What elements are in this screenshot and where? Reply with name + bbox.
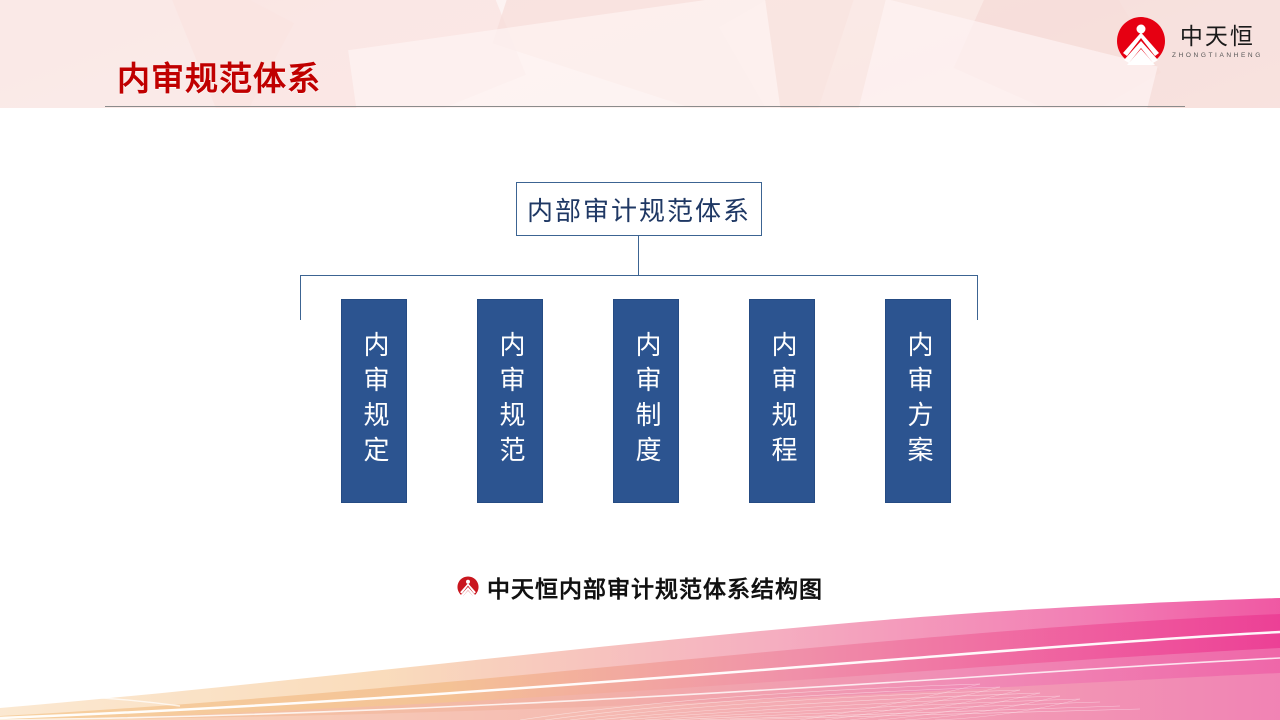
brand-text: 中天恒 ZHONGTIANHENG bbox=[1172, 23, 1263, 59]
zhongtianheng-mountain-logo-icon bbox=[1116, 16, 1166, 66]
footer-decoration bbox=[0, 590, 1280, 720]
connector-vertical bbox=[638, 236, 639, 275]
org-leaf-node[interactable]: 内审规定 bbox=[341, 299, 407, 503]
org-root-label: 内部审计规范体系 bbox=[527, 191, 751, 228]
connector-drop-left bbox=[300, 275, 301, 320]
org-leaf-node[interactable]: 内审方案 bbox=[885, 299, 951, 503]
brand-name-en: ZHONGTIANHENG bbox=[1172, 52, 1263, 59]
org-leaf-node[interactable]: 内审制度 bbox=[613, 299, 679, 503]
org-leaf-node[interactable]: 内审规范 bbox=[477, 299, 543, 503]
org-leaf-label: 内审制度 bbox=[633, 331, 659, 471]
org-leaf-node[interactable]: 内审规程 bbox=[749, 299, 815, 503]
zhongtianheng-mountain-logo-icon bbox=[457, 576, 479, 598]
brand-logo: 中天恒 ZHONGTIANHENG bbox=[1116, 10, 1276, 72]
org-root-node[interactable]: 内部审计规范体系 bbox=[516, 182, 762, 236]
brand-name-cn: 中天恒 bbox=[1180, 25, 1255, 48]
chart-caption: 中天恒内部审计规范体系结构图 bbox=[0, 570, 1280, 604]
org-leaf-label: 内审方案 bbox=[905, 331, 931, 471]
org-leaf-label: 内审规定 bbox=[361, 331, 387, 471]
org-leaf-label: 内审规程 bbox=[769, 331, 795, 471]
connector-drop-right bbox=[977, 275, 978, 320]
org-leaf-label: 内审规范 bbox=[497, 331, 523, 471]
org-chart: 内部审计规范体系 内审规定 内审规范 内审制度 内审规程 内审方案 bbox=[0, 108, 1280, 608]
connector-horizontal bbox=[300, 275, 978, 276]
header-divider bbox=[105, 106, 1185, 107]
chart-caption-text: 中天恒内部审计规范体系结构图 bbox=[487, 570, 823, 604]
slide-canvas: 内审规范体系 中天恒 ZHONGTIANHENG 内部审计规范体系 内审规定 bbox=[0, 0, 1280, 720]
page-title: 内审规范体系 bbox=[117, 52, 321, 100]
